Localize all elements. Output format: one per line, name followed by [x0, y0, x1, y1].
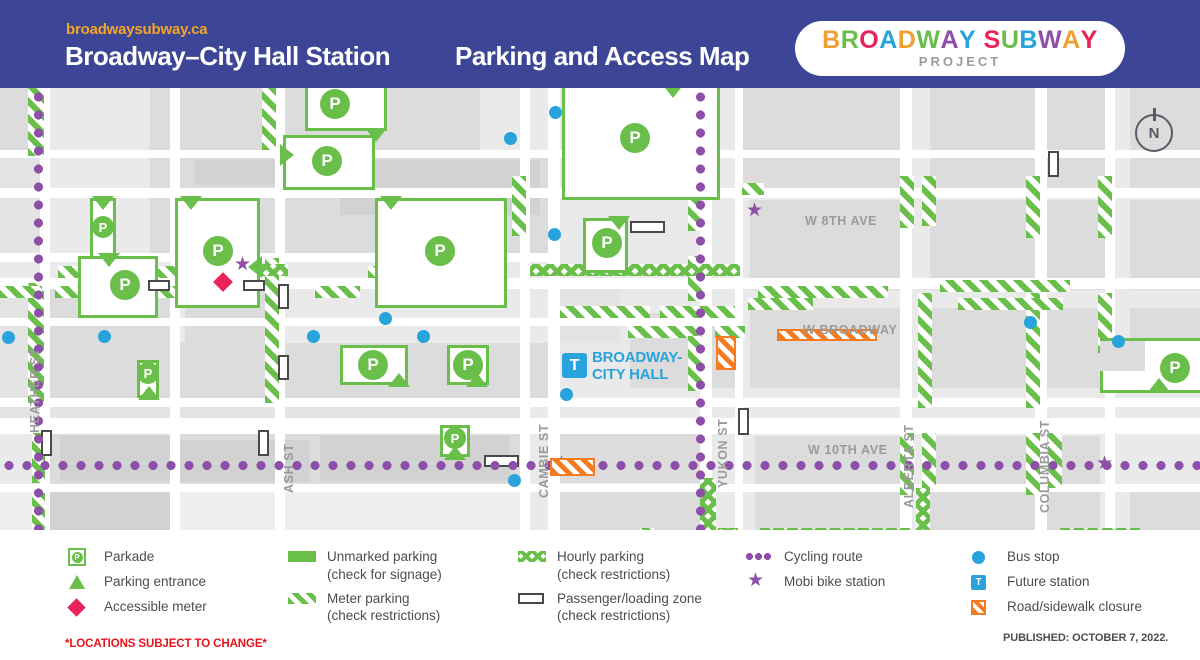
street-label-w-broadway: W BROADWAY [803, 323, 897, 337]
compass-north-icon: N [1135, 114, 1173, 152]
city-block [50, 490, 170, 530]
locations-subject-to-change-note: *LOCATIONS SUBJECT TO CHANGE* [65, 638, 267, 650]
bus-stop-marker [307, 330, 320, 343]
parkade-marker: P [312, 146, 342, 176]
legend-label: Parkade [104, 548, 154, 566]
meter-parking-segment [758, 286, 888, 298]
passenger-loading-zone [148, 280, 170, 291]
bus-stop-marker [1112, 335, 1125, 348]
mobi-bike-station-icon: ★ [745, 573, 775, 592]
legend-label: Meter parking (check restrictions) [327, 590, 440, 626]
logo-letter: B [822, 28, 841, 53]
meter-parking-segment [560, 306, 650, 318]
legend-item-unmarked-parking: Unmarked parking (check for signage) [288, 548, 503, 584]
parkade-marker: P [137, 362, 159, 384]
legend-item-bus-stop: Bus stop [968, 548, 1193, 567]
street-label-yukon: YUKON ST [716, 419, 730, 488]
parkade-marker: P [203, 236, 233, 266]
bus-stop-marker [549, 106, 562, 119]
logo-letter: R [841, 28, 860, 53]
hourly-parking-segment [530, 264, 740, 276]
passenger-loading-zone [278, 284, 289, 309]
map-canvas[interactable]: P P P P P P P P P P P P [0, 88, 1200, 530]
street-label-heather: HEATHER ST [28, 348, 42, 433]
legend-item-hourly-parking: Hourly parking (check restrictions) [518, 548, 743, 584]
parking-entrance-marker [138, 386, 160, 400]
parkade-marker: P [425, 236, 455, 266]
legend-label: Passenger/loading zone (check restrictio… [557, 590, 702, 626]
legend-item-road-closure: Road/sidewalk closure [968, 598, 1193, 617]
city-block [740, 88, 910, 188]
published-date: PUBLISHED: OCTOBER 7, 2022. [1003, 632, 1168, 644]
parking-entrance-marker [98, 253, 120, 267]
road-sidewalk-closure-icon [968, 598, 998, 617]
legend-item-cycling-route: Cycling route [745, 548, 945, 567]
road-w-broadway [0, 418, 1200, 434]
bus-stop-marker [1024, 316, 1037, 329]
parking-entrance-marker [180, 196, 202, 210]
logo-letter [976, 28, 983, 53]
legend-item-accessible-meter: Accessible meter [65, 598, 265, 617]
accessible-meter-icon [65, 598, 95, 617]
logo-letter: D [898, 28, 917, 53]
passenger-loading-zone [258, 430, 269, 456]
legend-column-5: Bus stop T Future station Road/sidewalk … [968, 548, 1193, 623]
parkade-marker: P [358, 350, 388, 380]
passenger-loading-zone [243, 280, 265, 291]
meter-parking-segment [512, 176, 526, 236]
parking-entrance-marker [92, 196, 114, 210]
passenger-loading-zone [738, 408, 749, 435]
parking-entrance-marker [388, 373, 410, 387]
bus-stop-marker [560, 388, 573, 401]
legend-label: Parking entrance [104, 573, 206, 591]
parkade-marker: P [620, 123, 650, 153]
legend-label: Future station [1007, 573, 1090, 591]
passenger-loading-zone [630, 221, 665, 233]
logo-letter: Y [1081, 28, 1098, 53]
hourly-parking-icon [518, 548, 548, 567]
meter-parking-segment [918, 293, 932, 408]
city-block [755, 488, 900, 530]
logo-letter: S [984, 28, 1001, 53]
hourly-parking-segment [916, 488, 930, 530]
bus-stop-marker [508, 474, 521, 487]
road-horizontal [0, 484, 1200, 492]
street-label-ash: ASH ST [282, 444, 296, 493]
legend-column-2: Unmarked parking (check for signage) Met… [288, 548, 503, 631]
bus-stop-marker [2, 331, 15, 344]
parkade-icon-p: P [72, 552, 83, 563]
logo-subtitle: PROJECT [795, 54, 1125, 69]
meter-parking-segment [315, 286, 360, 298]
city-block [1130, 200, 1200, 290]
meter-parking-segment [748, 298, 813, 310]
cycling-route-icon [745, 548, 775, 567]
page-header: broadwaysubway.ca Broadway–City Hall Sta… [0, 0, 1200, 88]
legend-column-1: P Parkade Parking entrance Accessible me… [65, 548, 265, 623]
bus-stop-marker [504, 132, 517, 145]
street-label-w10th: W 10TH AVE [808, 443, 888, 457]
meter-parking-segment [1026, 176, 1040, 238]
logo-letter: A [879, 28, 898, 53]
meter-parking-segment [1026, 293, 1040, 408]
station-name-label: BROADWAY- CITY HALL [592, 350, 682, 384]
city-block [930, 200, 1110, 290]
city-block [560, 488, 700, 530]
parking-entrance-marker [466, 373, 488, 387]
legend-column-3: Hourly parking (check restrictions) Pass… [518, 548, 743, 631]
bus-stop-marker [548, 228, 561, 241]
logo-letter: U [1001, 28, 1020, 53]
parking-entrance-marker [1148, 378, 1170, 392]
mobi-bike-station-marker: ★ [234, 255, 251, 274]
legend-item-parkade: P Parkade [65, 548, 265, 567]
parkade-marker: P [92, 216, 114, 238]
logo-letter: W [1038, 28, 1062, 53]
legend-label: Unmarked parking (check for signage) [327, 548, 442, 584]
meter-parking-segment [922, 176, 936, 226]
parkade-icon: P [65, 548, 95, 567]
street-label-cambie: CAMBIE ST [537, 424, 551, 498]
road-horizontal [0, 398, 1200, 407]
city-block [1130, 488, 1200, 530]
logo-letter: B [1019, 28, 1038, 53]
mobi-bike-station-marker: ★ [746, 201, 763, 220]
passenger-loading-zone-icon [518, 590, 548, 609]
city-block [930, 488, 1100, 530]
passenger-loading-zone [278, 355, 289, 380]
website-url[interactable]: broadwaysubway.ca [66, 21, 207, 38]
legend-item-passenger-loading-zone: Passenger/loading zone (check restrictio… [518, 590, 743, 626]
meter-parking-segment [958, 298, 1063, 310]
bus-stop-marker [379, 312, 392, 325]
cycling-route-w10th [0, 461, 1200, 470]
city-block [930, 308, 1105, 388]
unmarked-parking-icon [288, 548, 318, 567]
logo-letter: O [859, 28, 879, 53]
passenger-loading-zone [1048, 151, 1059, 177]
street-label-w8th: W 8TH AVE [805, 214, 877, 228]
street-label-columbia: COLUMBIA ST [1038, 420, 1052, 513]
legend-label: Hourly parking (check restrictions) [557, 548, 670, 584]
parking-entrance-icon [65, 573, 95, 592]
meter-parking-segment [742, 183, 764, 195]
parking-entrance-marker [444, 446, 466, 460]
legend-label: Road/sidewalk closure [1007, 598, 1142, 616]
parking-entrance-marker [280, 144, 294, 166]
parkade-marker: P [592, 228, 622, 258]
compass-label: N [1149, 125, 1160, 142]
road-closure-marker [550, 458, 595, 476]
road-horizontal [0, 318, 740, 326]
legend-item-future-station: T Future station [968, 573, 1193, 592]
parkade-marker: P [320, 89, 350, 119]
parking-entrance-marker [608, 216, 630, 230]
page-title: Broadway–City Hall Station [65, 41, 390, 72]
parkade-marker: P [110, 270, 140, 300]
meter-parking-icon [288, 590, 318, 609]
legend-column-4: Cycling route ★ Mobi bike station [745, 548, 945, 598]
meter-parking-segment [940, 280, 1070, 292]
parking-entrance-marker [380, 196, 402, 210]
legend-label: Accessible meter [104, 598, 207, 616]
legend-item-meter-parking: Meter parking (check restrictions) [288, 590, 503, 626]
city-block [320, 436, 510, 481]
legend-label: Mobi bike station [784, 573, 885, 591]
logo-letter: A [940, 28, 959, 53]
legend-item-mobi-bike-station: ★ Mobi bike station [745, 573, 945, 592]
broadway-subway-project-logo: BROADWAY SUBWAY PROJECT [795, 21, 1125, 76]
logo-letter: W [916, 28, 940, 53]
future-station-marker[interactable]: T [562, 353, 587, 378]
parking-access-map-page: broadwaysubway.ca Broadway–City Hall Sta… [0, 0, 1200, 660]
bus-stop-icon [968, 548, 998, 567]
meter-parking-segment [1098, 176, 1112, 238]
legend-item-parking-entrance: Parking entrance [65, 573, 265, 592]
meter-parking-segment [262, 88, 276, 150]
future-station-icon: T [968, 573, 998, 592]
street-label-alberta: ALBERTA ST [902, 424, 916, 508]
compass-tick [1153, 108, 1156, 121]
meter-parking-segment [900, 176, 914, 228]
road-closure-marker [716, 336, 736, 370]
logo-wordmark: BROADWAY SUBWAY [795, 28, 1125, 53]
legend-label: Cycling route [784, 548, 863, 566]
logo-letter: A [1062, 28, 1081, 53]
legend-label: Bus stop [1007, 548, 1060, 566]
logo-letter: Y [959, 28, 976, 53]
parking-entrance-marker [662, 88, 684, 98]
meter-parking-segment [265, 258, 279, 403]
city-block [930, 88, 1110, 188]
city-block [750, 308, 900, 388]
city-block [60, 436, 170, 481]
bus-stop-marker [98, 330, 111, 343]
bus-stop-marker [417, 330, 430, 343]
page-subtitle: Parking and Access Map [455, 41, 749, 72]
